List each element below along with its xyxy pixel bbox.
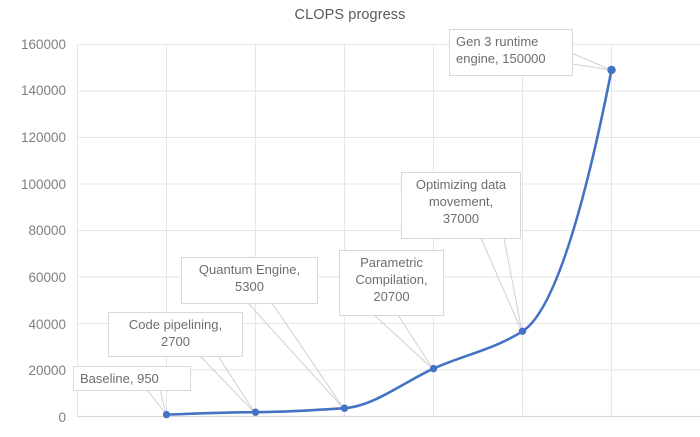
data-label-optimizing-data-movement[interactable]: Optimizing data movement, 37000 — [401, 172, 521, 239]
data-point-marker — [163, 411, 170, 418]
data-point-markers — [163, 66, 616, 419]
data-point-marker — [519, 328, 526, 335]
data-point-marker — [430, 365, 437, 372]
clops-progress-chart: CLOPS progress 160000 140000 120000 1000… — [0, 0, 700, 437]
data-label-quantum-engine[interactable]: Quantum Engine, 5300 — [181, 257, 318, 304]
data-point-marker — [341, 405, 348, 412]
data-label-gen3-runtime-engine[interactable]: Gen 3 runtime engine, 150000 — [449, 29, 573, 76]
data-line-series — [167, 70, 612, 415]
data-label-baseline[interactable]: Baseline, 950 — [73, 366, 191, 391]
data-label-parametric-compilation[interactable]: Parametric Compilation, 20700 — [339, 250, 444, 316]
data-point-marker — [252, 409, 259, 416]
data-label-code-pipelining[interactable]: Code pipelining, 2700 — [108, 312, 243, 357]
data-point-marker — [607, 66, 615, 74]
